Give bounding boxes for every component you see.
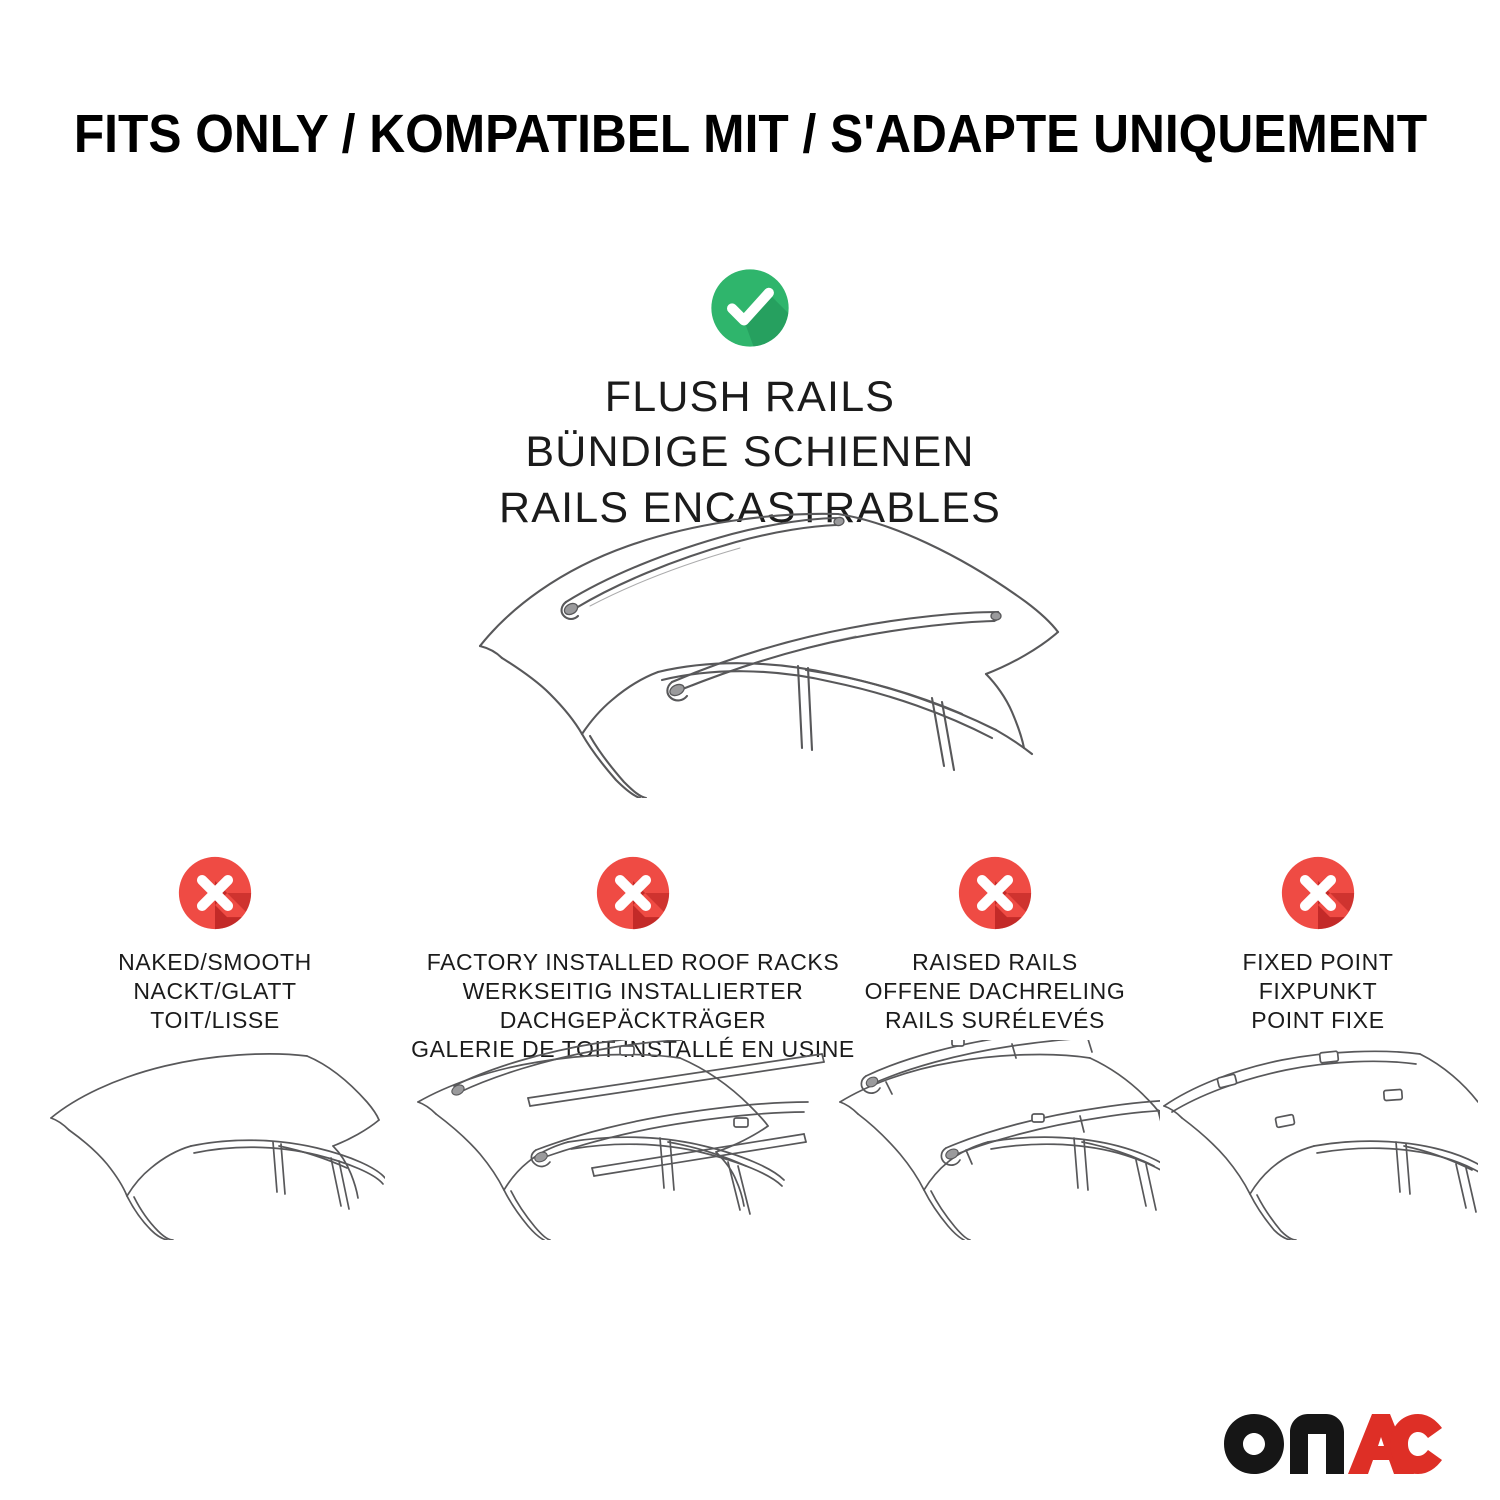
page-title-text: FITS ONLY / KOMPATIBEL MIT / S'ADAPTE UN… bbox=[73, 103, 1426, 165]
label-fixed-en: FIXED POINT bbox=[1158, 948, 1478, 977]
not-compatible-item-fixed: FIXED POINT FIXPUNKT POINT FIXE bbox=[1158, 850, 1478, 1035]
car-roof-with-raised-rails-illustration bbox=[830, 1040, 1160, 1240]
not-compatible-labels-naked: NAKED/SMOOTH NACKT/GLATT TOIT/LISSE bbox=[45, 948, 385, 1035]
label-factory-en: FACTORY INSTALLED ROOF RACKS bbox=[398, 948, 868, 977]
omac-logo bbox=[1222, 1412, 1444, 1476]
check-circle-icon bbox=[704, 262, 796, 354]
label-naked-en: NAKED/SMOOTH bbox=[45, 948, 385, 977]
car-roof-with-flush-rails-illustration bbox=[440, 498, 1080, 798]
not-compatible-section: NAKED/SMOOTH NACKT/GLATT TOIT/LISSE bbox=[0, 850, 1500, 1270]
compatible-label-en: FLUSH RAILS bbox=[0, 370, 1500, 425]
label-fixed-de: FIXPUNKT bbox=[1158, 977, 1478, 1006]
x-circle-icon bbox=[1275, 850, 1361, 936]
label-naked-fr: TOIT/LISSE bbox=[45, 1006, 385, 1035]
car-roof-with-fixed-points-illustration bbox=[1158, 1040, 1478, 1240]
not-compatible-item-naked: NAKED/SMOOTH NACKT/GLATT TOIT/LISSE bbox=[45, 850, 385, 1035]
not-compatible-labels-fixed: FIXED POINT FIXPUNKT POINT FIXE bbox=[1158, 948, 1478, 1035]
not-compatible-item-factory: FACTORY INSTALLED ROOF RACKS WERKSEITIG … bbox=[398, 850, 868, 1064]
x-circle-icon bbox=[172, 850, 258, 936]
label-naked-de: NACKT/GLATT bbox=[45, 977, 385, 1006]
label-raised-en: RAISED RAILS bbox=[830, 948, 1160, 977]
compatible-label-de: BÜNDIGE SCHIENEN bbox=[0, 425, 1500, 480]
label-factory-de-2: DACHGEPÄCKTRÄGER bbox=[398, 1006, 868, 1035]
label-factory-de-1: WERKSEITIG INSTALLIERTER bbox=[398, 977, 868, 1006]
x-circle-icon bbox=[590, 850, 676, 936]
label-raised-de: OFFENE DACHRELING bbox=[830, 977, 1160, 1006]
compatible-section: FLUSH RAILS BÜNDIGE SCHIENEN RAILS ENCAS… bbox=[0, 262, 1500, 536]
car-roof-with-factory-crossbars-illustration bbox=[398, 1040, 868, 1240]
page-title: FITS ONLY / KOMPATIBEL MIT / S'ADAPTE UN… bbox=[0, 103, 1500, 165]
car-roof-bare-illustration bbox=[45, 1040, 385, 1240]
not-compatible-item-raised: RAISED RAILS OFFENE DACHRELING RAILS SUR… bbox=[830, 850, 1160, 1035]
x-circle-icon bbox=[952, 850, 1038, 936]
not-compatible-labels-raised: RAISED RAILS OFFENE DACHRELING RAILS SUR… bbox=[830, 948, 1160, 1035]
label-fixed-fr: POINT FIXE bbox=[1158, 1006, 1478, 1035]
label-raised-fr: RAILS SURÉLEVÉS bbox=[830, 1006, 1160, 1035]
